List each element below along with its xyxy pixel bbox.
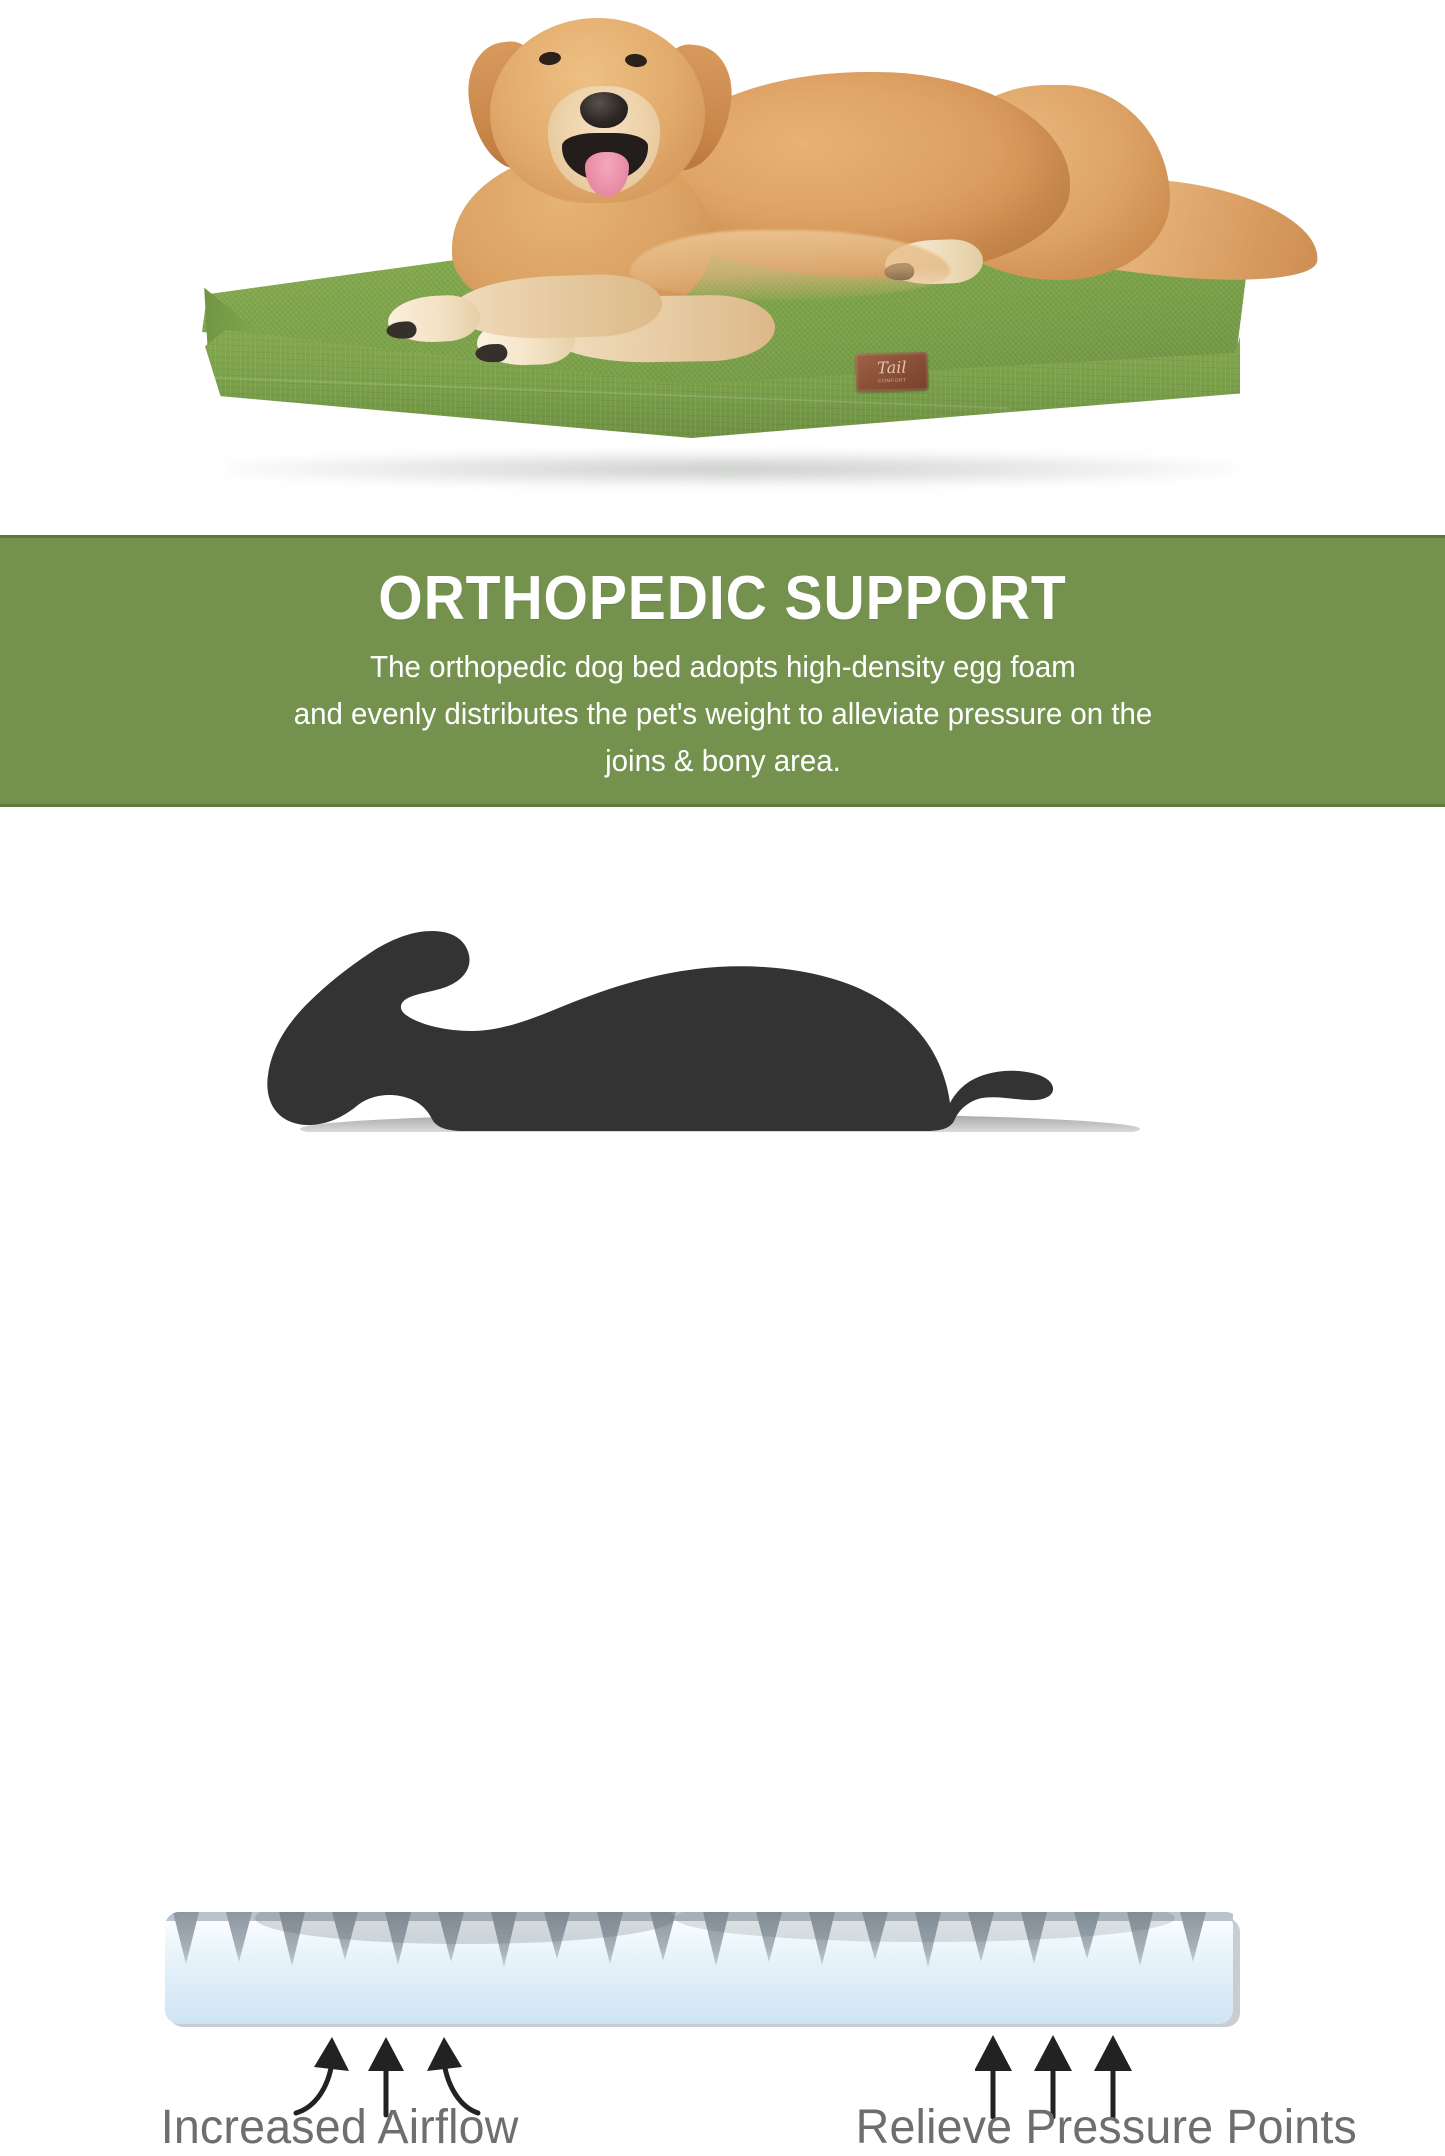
pressure-arrow-2-head <box>1034 2035 1072 2071</box>
pressure-arrow-1-head <box>975 2035 1012 2071</box>
caption-increased-airflow: Increased Airflow <box>11 2100 726 2156</box>
golden-retriever-photo <box>0 0 1445 535</box>
banner-description: The orthopedic dog bed adopts high-densi… <box>210 643 1236 784</box>
dog-front-paw-left <box>387 294 481 345</box>
egg-foam-diagram: Increased Airflow Relieve Pressure Point… <box>0 807 1445 1349</box>
banner-description-line-1: The orthopedic dog bed adopts high-densi… <box>210 643 1236 690</box>
dog-silhouette <box>250 897 1210 1132</box>
airflow-arrow-left-head <box>314 2037 349 2071</box>
egg-crate-foam-mattress <box>165 1912 1240 2027</box>
banner-description-line-3: joins & bony area. <box>210 737 1236 784</box>
dog-silhouette-shadow <box>300 1113 1140 1132</box>
banner-description-line-2: and evenly distributes the pet's weight … <box>210 690 1236 737</box>
hero-product-photo: Tail COMFORT <box>0 0 1445 535</box>
pressure-arrow-3-head <box>1094 2035 1132 2071</box>
orthopedic-support-banner: ORTHOPEDIC SUPPORT The orthopedic dog be… <box>0 535 1445 807</box>
airflow-arrow-center-head <box>368 2037 404 2071</box>
dog-silhouette-path <box>267 931 1053 1131</box>
dog-nose <box>580 92 628 128</box>
airflow-arrow-right-head <box>427 2037 462 2071</box>
caption-relieve-pressure-points: Relieve Pressure Points <box>748 2100 1434 2156</box>
hero-stage: Tail COMFORT <box>0 0 1445 535</box>
diagram-captions: Increased Airflow Relieve Pressure Point… <box>0 2100 1445 2156</box>
banner-title: ORTHOPEDIC SUPPORT <box>58 538 1387 631</box>
